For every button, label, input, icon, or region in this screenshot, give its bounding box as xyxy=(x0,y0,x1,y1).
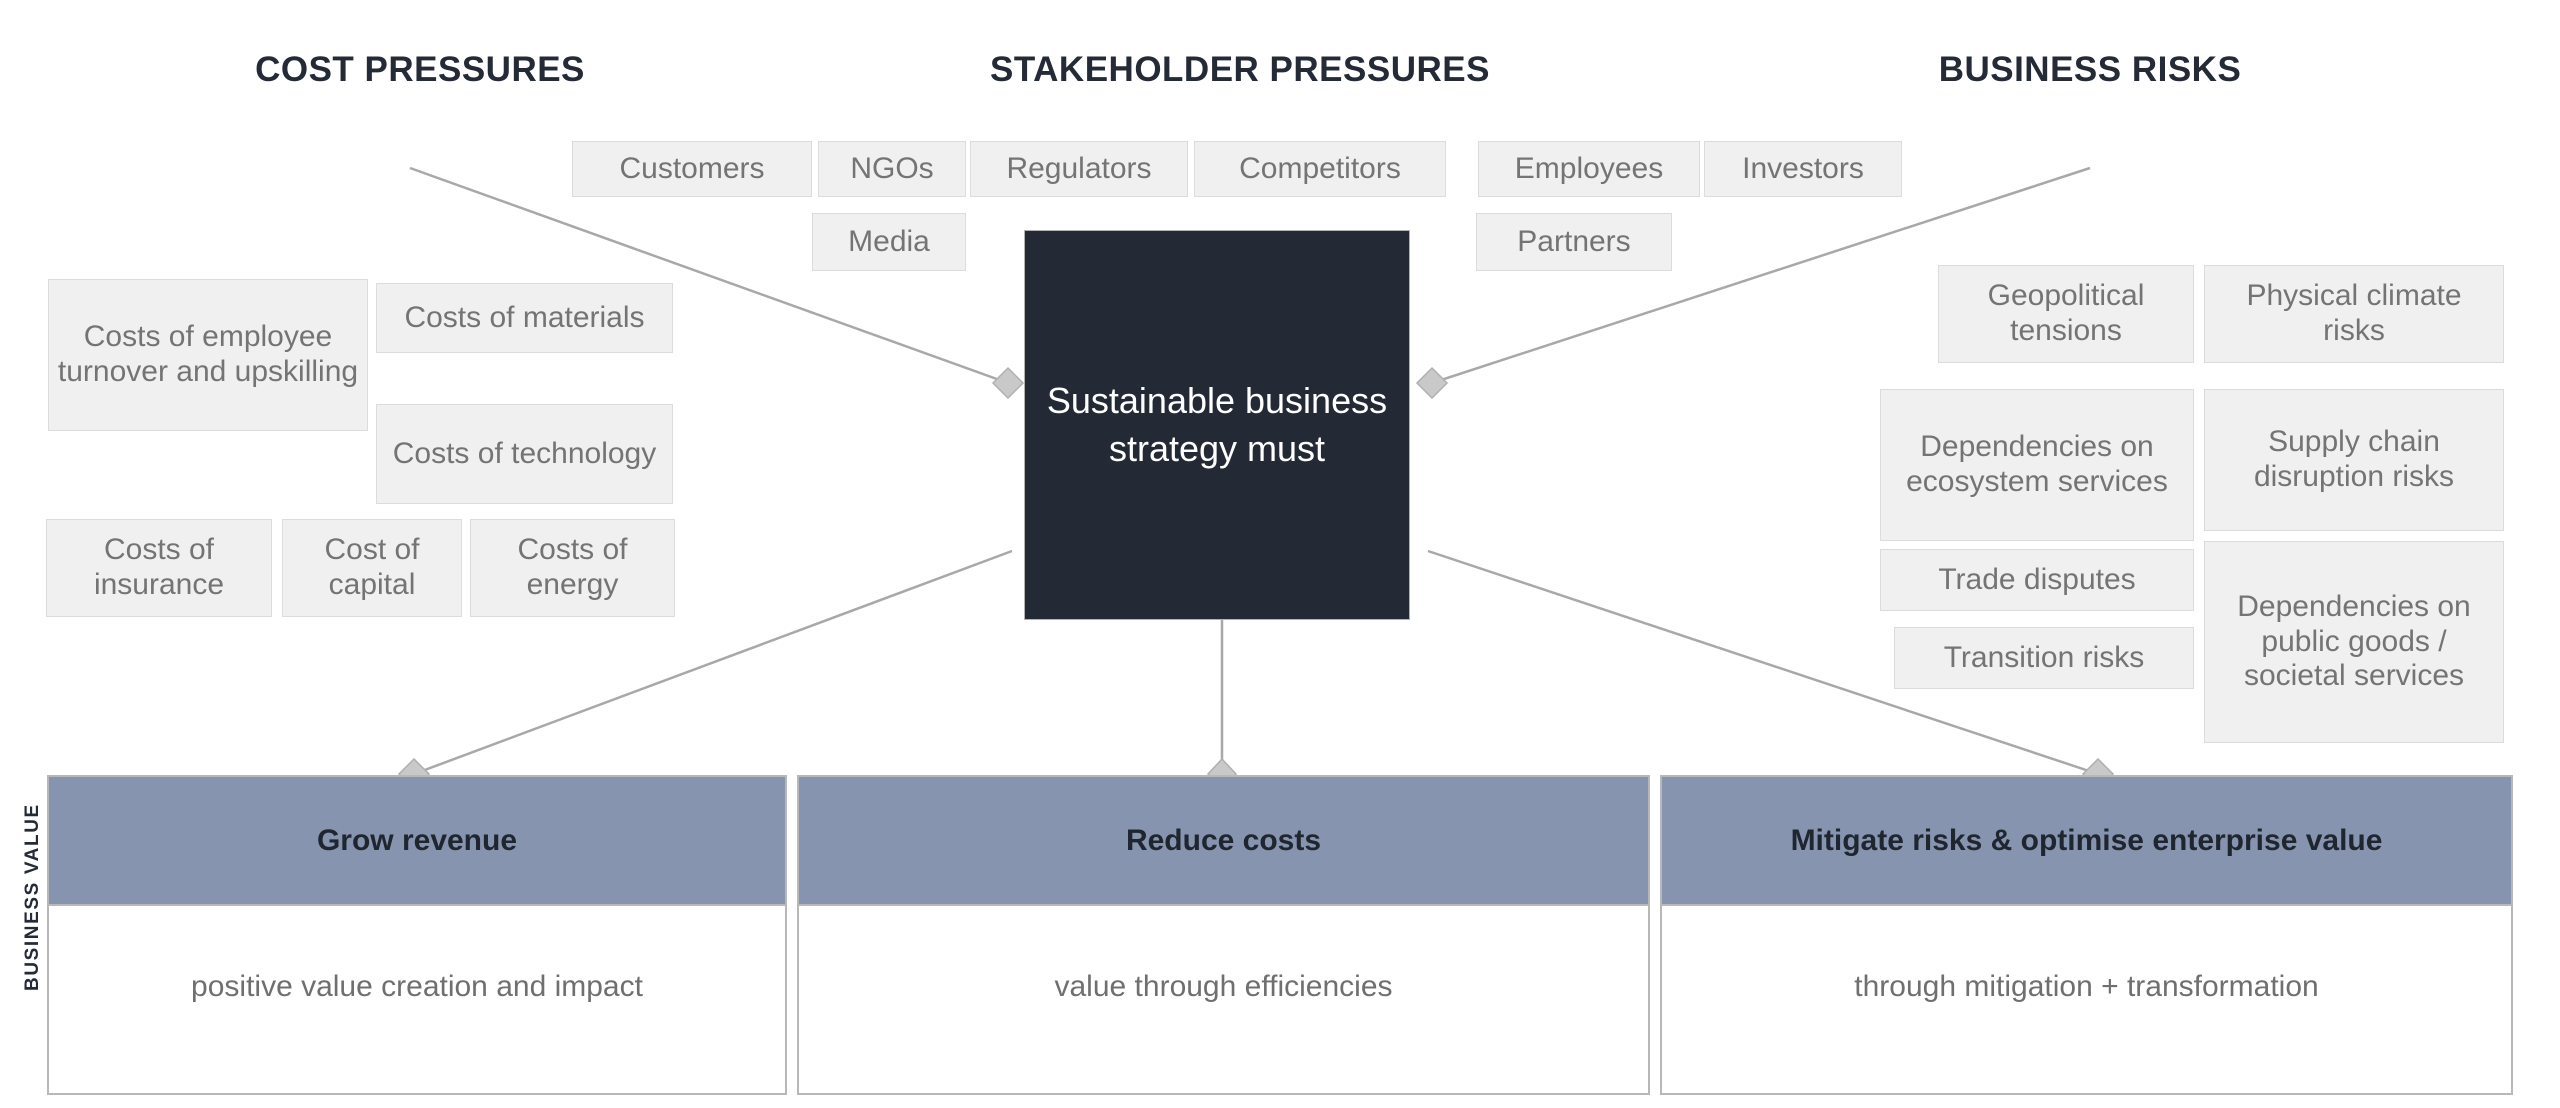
cost-chip-materials[interactable]: Costs of materials xyxy=(376,283,673,353)
diagram-canvas: COST PRESSURES STAKEHOLDER PRESSURES BUS… xyxy=(0,0,2560,1108)
center-strategy-text: Sustainable business strategy must xyxy=(1025,377,1409,473)
risk-chip-supply-chain-disruption[interactable]: Supply chain disruption risks xyxy=(2204,389,2504,531)
center-strategy-box: Sustainable business strategy must xyxy=(1024,230,1410,620)
cost-chip-insurance[interactable]: Costs of insurance xyxy=(46,519,272,617)
stakeholder-chip-ngos[interactable]: NGOs xyxy=(818,141,966,197)
cost-chip-employee-turnover[interactable]: Costs of employee turnover and upskillin… xyxy=(48,279,368,431)
value-panel-title-grow-revenue: Grow revenue xyxy=(49,777,785,906)
risk-chip-ecosystem-services[interactable]: Dependencies on ecosystem services xyxy=(1880,389,2194,541)
risk-chip-public-goods-societal-services[interactable]: Dependencies on public goods / societal … xyxy=(2204,541,2504,743)
section-header-cost-pressures: COST PRESSURES xyxy=(60,50,780,90)
value-panel-subtitle-mitigate-risks: through mitigation + transformation xyxy=(1662,906,2511,1093)
risk-chip-geopolitical-tensions[interactable]: Geopolitical tensions xyxy=(1938,265,2194,363)
value-panel-title-reduce-costs: Reduce costs xyxy=(799,777,1648,906)
business-value-axis-label: BUSINESS VALUE xyxy=(22,831,44,991)
stakeholder-chip-competitors[interactable]: Competitors xyxy=(1194,141,1446,197)
value-panel-grow-revenue[interactable]: Grow revenue positive value creation and… xyxy=(47,775,787,1095)
risk-chip-physical-climate-risks[interactable]: Physical climate risks xyxy=(2204,265,2504,363)
stakeholder-chip-partners[interactable]: Partners xyxy=(1476,213,1672,271)
stakeholder-chip-employees[interactable]: Employees xyxy=(1478,141,1700,197)
stakeholder-chip-regulators[interactable]: Regulators xyxy=(970,141,1188,197)
stakeholder-chip-investors[interactable]: Investors xyxy=(1704,141,1902,197)
value-panel-subtitle-reduce-costs: value through efficiencies xyxy=(799,906,1648,1093)
cost-chip-technology[interactable]: Costs of technology xyxy=(376,404,673,504)
cost-chip-energy[interactable]: Costs of energy xyxy=(470,519,675,617)
value-panel-mitigate-risks[interactable]: Mitigate risks & optimise enterprise val… xyxy=(1660,775,2513,1095)
section-header-business-risks: BUSINESS RISKS xyxy=(1720,50,2460,90)
section-header-stakeholder-pressures: STAKEHOLDER PRESSURES xyxy=(860,50,1620,90)
cost-chip-capital[interactable]: Cost of capital xyxy=(282,519,462,617)
value-panel-subtitle-grow-revenue: positive value creation and impact xyxy=(49,906,785,1093)
stakeholder-chip-media[interactable]: Media xyxy=(812,213,966,271)
stakeholder-chip-customers[interactable]: Customers xyxy=(572,141,812,197)
value-panel-title-mitigate-risks: Mitigate risks & optimise enterprise val… xyxy=(1662,777,2511,906)
value-panel-reduce-costs[interactable]: Reduce costs value through efficiencies xyxy=(797,775,1650,1095)
risk-chip-trade-disputes[interactable]: Trade disputes xyxy=(1880,549,2194,611)
risk-chip-transition-risks[interactable]: Transition risks xyxy=(1894,627,2194,689)
